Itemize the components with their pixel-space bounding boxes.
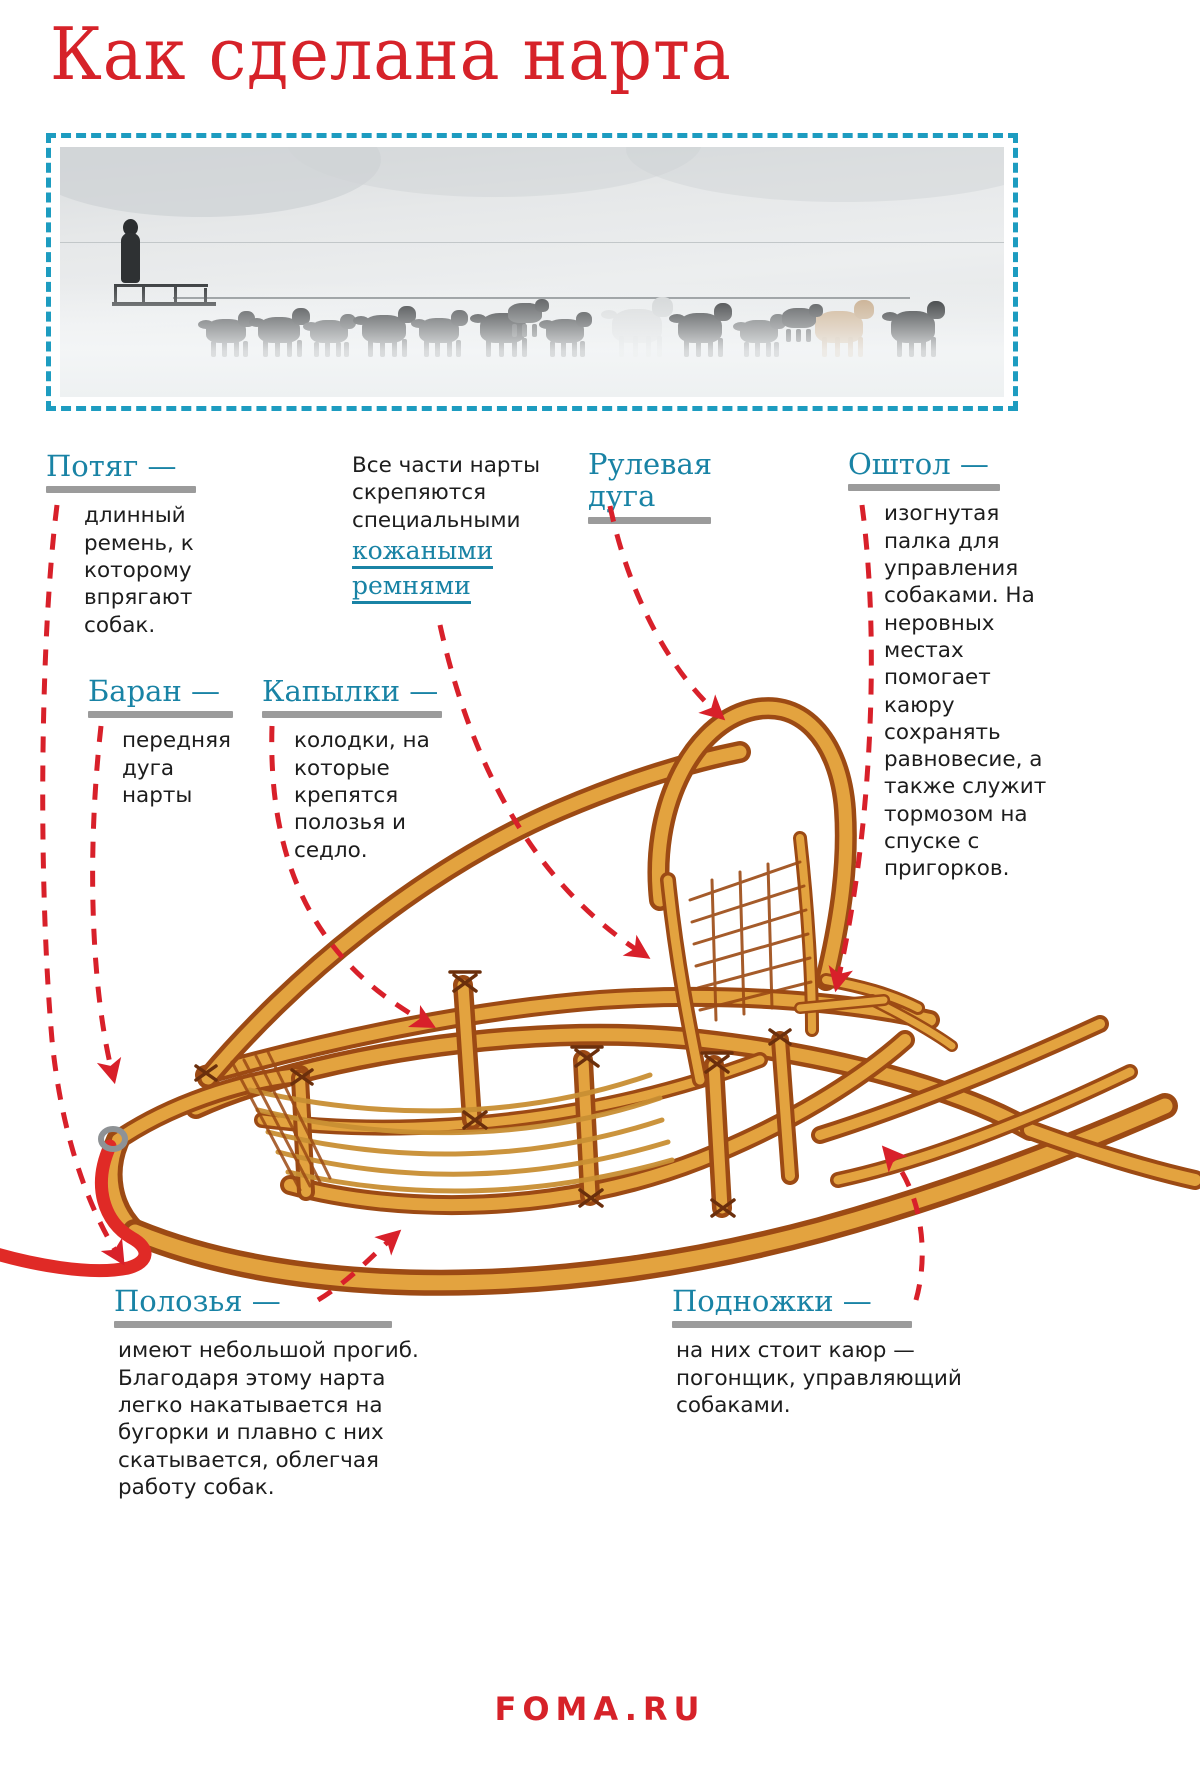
- label-kapylki: Капылки — колодки, на которые крепятся п…: [262, 675, 462, 864]
- note-line-2: скрепяются: [352, 480, 486, 505]
- label-rulevaya-duga: Рулевая дуга: [588, 448, 748, 524]
- label-rule: [588, 517, 711, 524]
- arrow-podnozhki: [890, 1155, 922, 1300]
- label-potyag: Потяг — длинный ремень, к которому впряг…: [46, 450, 264, 639]
- label-kapylki-body: колодки, на которые крепятся полозья и с…: [294, 727, 456, 863]
- note-line-1: Все части нарты: [352, 453, 540, 478]
- dog-sled-team-photo: [60, 147, 1004, 397]
- note-highlight-1: кожаными: [352, 536, 567, 569]
- label-polozya-heading: Полозья —: [114, 1285, 474, 1317]
- page-title: Как сделана нарта: [50, 18, 732, 90]
- label-podnozhki-body: на них стоит каюр — погонщик, управляющи…: [676, 1337, 996, 1419]
- photo-snow-shading: [60, 282, 1004, 397]
- label-oshtol-heading: Оштол —: [848, 448, 1063, 480]
- note-line-3: специальными: [352, 508, 521, 533]
- label-potyag-heading: Потяг —: [46, 450, 264, 482]
- label-rule: [46, 486, 196, 493]
- photo-frame: [46, 133, 1018, 411]
- arrow-rulevaya-duga: [610, 506, 716, 712]
- label-baran: Баран — передняя дуга нарты: [88, 675, 258, 809]
- note-leather-straps: Все части нарты скрепяются специальными …: [352, 452, 567, 604]
- label-rule: [672, 1321, 912, 1328]
- note-highlight-2: ремнями: [352, 571, 567, 604]
- brand-footer: FOMA.RU: [0, 1690, 1200, 1728]
- label-potyag-body: длинный ремень, к которому впрягают соба…: [84, 502, 266, 638]
- photo-hill: [626, 147, 1004, 202]
- label-kapylki-heading: Капылки —: [262, 675, 462, 707]
- label-rule: [262, 711, 442, 718]
- label-oshtol: Оштол — изогнутая палка для управления с…: [848, 448, 1063, 883]
- photo-horizon: [60, 242, 1004, 243]
- label-baran-heading: Баран —: [88, 675, 258, 707]
- label-oshtol-body: изогнутая палка для управления собаками.…: [884, 500, 1064, 882]
- label-rulevaya-duga-heading: Рулевая дуга: [588, 448, 738, 513]
- label-rule: [114, 1321, 392, 1328]
- arrow-leather-straps: [440, 625, 640, 952]
- label-podnozhki: Подножки — на них стоит каюр — погонщик,…: [672, 1285, 1022, 1419]
- label-rule: [88, 711, 233, 718]
- label-podnozhki-heading: Подножки —: [672, 1285, 1022, 1317]
- label-polozya-body: имеют небольшой прогиб. Благодаря этому …: [118, 1337, 450, 1501]
- label-baran-body: передняя дуга нарты: [122, 727, 248, 809]
- label-polozya: Полозья — имеют небольшой прогиб. Благод…: [114, 1285, 474, 1501]
- label-rule: [848, 484, 1000, 491]
